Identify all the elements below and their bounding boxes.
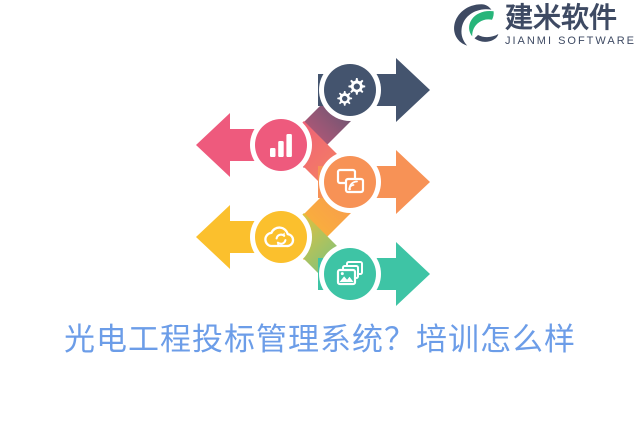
brand-logo: 建米软件 JIANMI SOFTWARE bbox=[451, 2, 636, 48]
process-step-5[interactable] bbox=[318, 242, 430, 306]
brand-text-block: 建米软件 JIANMI SOFTWARE bbox=[505, 2, 636, 48]
process-step-3[interactable] bbox=[318, 150, 430, 214]
page-title: 光电工程投标管理系统？培训怎么样 bbox=[0, 318, 640, 362]
brand-name-en: JIANMI SOFTWARE bbox=[505, 34, 636, 48]
step-4-circle[interactable] bbox=[255, 211, 307, 263]
step-1-circle[interactable] bbox=[324, 64, 376, 116]
process-step-4[interactable] bbox=[196, 205, 312, 269]
process-step-1[interactable] bbox=[318, 58, 430, 122]
process-step-2[interactable] bbox=[196, 113, 312, 177]
jianmi-leaf-swoosh-logo-icon bbox=[451, 2, 499, 48]
brand-name-cn: 建米软件 bbox=[505, 3, 636, 33]
zigzag-arrow-infographic bbox=[168, 52, 458, 318]
